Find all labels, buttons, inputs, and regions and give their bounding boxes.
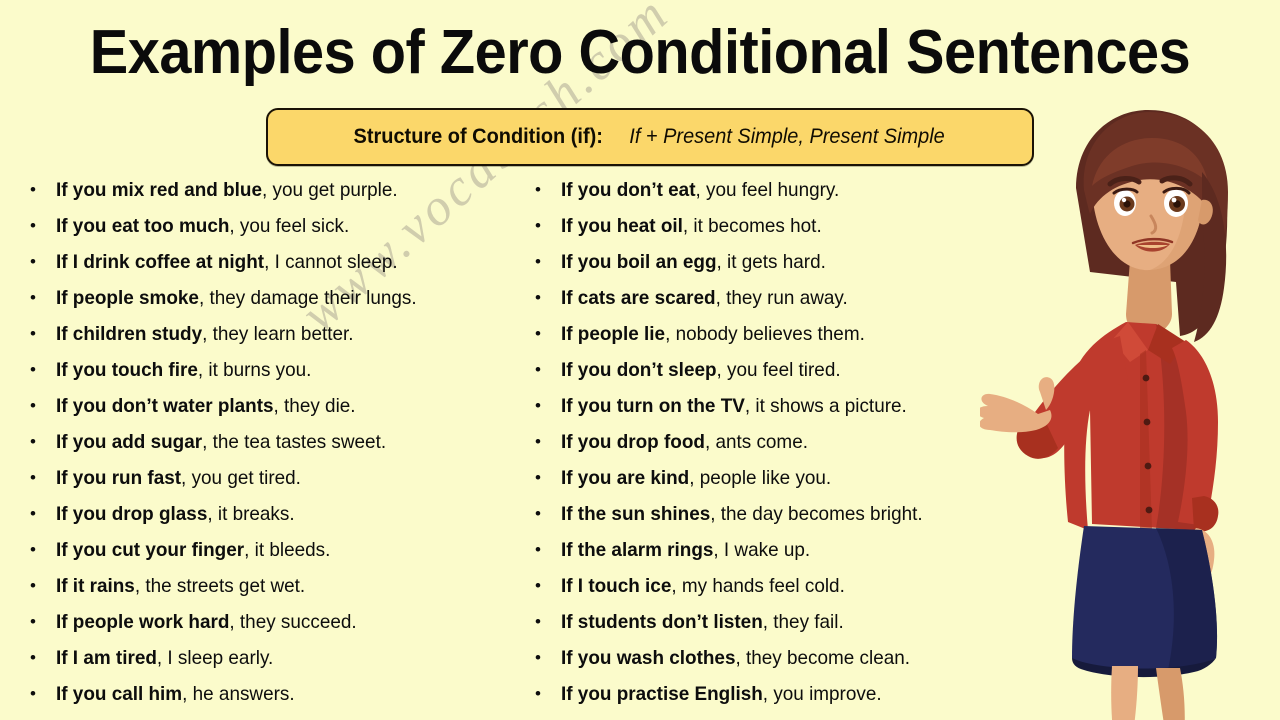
sentence-text: If you eat too much, you feel sick. [56,208,349,244]
condition-clause: If children study [56,323,202,345]
list-item: •If you call him, he answers. [30,676,530,712]
bullet-icon: • [535,244,561,280]
bullet-icon: • [30,316,56,352]
sentence-text: If you don’t water plants, they die. [56,388,356,424]
sentence-text: If you wash clothes, they become clean. [561,640,910,676]
sentence-text: If you mix red and blue, you get purple. [56,172,398,208]
result-clause: , you feel hungry. [696,179,840,201]
list-item: •If you run fast, you get tired. [30,460,530,496]
result-clause: , it shows a picture. [745,395,907,417]
list-item: •If people lie, nobody believes them. [535,316,1005,352]
bullet-icon: • [30,460,56,496]
result-clause: , my hands feel cold. [671,575,844,597]
list-item: •If the alarm rings, I wake up. [535,532,1005,568]
bullet-icon: • [535,352,561,388]
result-clause: , they succeed. [229,611,356,633]
list-item: •If you eat too much, you feel sick. [30,208,530,244]
condition-clause: If you drop food [561,431,705,453]
result-clause: , people like you. [689,467,831,489]
condition-clause: If you practise English [561,683,763,705]
bullet-icon: • [535,460,561,496]
shirt-button-4 [1146,507,1153,514]
bullet-icon: • [535,280,561,316]
result-clause: , the day becomes bright. [710,503,922,525]
shirt-button-3 [1145,463,1152,470]
list-item: •If I touch ice, my hands feel cold. [535,568,1005,604]
condition-clause: If people smoke [56,287,199,309]
result-clause: , the tea tastes sweet. [202,431,386,453]
sentence-text: If you don’t eat, you feel hungry. [561,172,839,208]
list-item: •If the sun shines, the day becomes brig… [535,496,1005,532]
condition-clause: If you run fast [56,467,181,489]
result-clause: , they become clean. [735,647,910,669]
sentence-text: If you don’t sleep, you feel tired. [561,352,841,388]
sentence-text: If I touch ice, my hands feel cold. [561,568,845,604]
bullet-icon: • [535,424,561,460]
list-item: •If you cut your finger, it bleeds. [30,532,530,568]
condition-clause: If you call him [56,683,182,705]
sentence-text: If you touch fire, it burns you. [56,352,311,388]
result-clause: , the streets get wet. [135,575,305,597]
condition-clause: If you add sugar [56,431,202,453]
leg-right [1156,668,1185,720]
list-item: •If you add sugar, the tea tastes sweet. [30,424,530,460]
condition-clause: If you don’t sleep [561,359,717,381]
bullet-icon: • [30,172,56,208]
condition-clause: If you turn on the TV [561,395,745,417]
result-clause: , I sleep early. [157,647,273,669]
bullet-icon: • [30,280,56,316]
condition-clause: If you don’t eat [561,179,696,201]
bullet-icon: • [535,532,561,568]
result-clause: , it bleeds. [244,539,330,561]
eye-glint-left [1122,198,1126,202]
sentence-text: If you add sugar, the tea tastes sweet. [56,424,386,460]
list-item: •If children study, they learn better. [30,316,530,352]
bullet-icon: • [30,208,56,244]
sentence-text: If people work hard, they succeed. [56,604,357,640]
bullet-icon: • [535,208,561,244]
bullet-icon: • [30,640,56,676]
list-item: •If you don’t eat, you feel hungry. [535,172,1005,208]
sentence-text: If you heat oil, it becomes hot. [561,208,822,244]
bullet-icon: • [535,388,561,424]
structure-formula: If + Present Simple, Present Simple [629,125,944,149]
list-item: •If you boil an egg, it gets hard. [535,244,1005,280]
list-item: •If you mix red and blue, you get purple… [30,172,530,208]
list-item: •If you practise English, you improve. [535,676,1005,712]
result-clause: , you get purple. [262,179,398,201]
sentence-text: If the sun shines, the day becomes brigh… [561,496,923,532]
bullet-icon: • [535,316,561,352]
condition-clause: If you touch fire [56,359,198,381]
bullet-icon: • [30,568,56,604]
condition-clause: If I drink coffee at night [56,251,264,273]
woman-teacher-illustration [980,92,1280,720]
result-clause: , they damage their lungs. [199,287,417,309]
list-item: •If cats are scared, they run away. [535,280,1005,316]
bullet-icon: • [30,352,56,388]
result-clause: , it breaks. [207,503,294,525]
result-clause: , ants come. [705,431,808,453]
sentence-text: If you turn on the TV, it shows a pictur… [561,388,907,424]
condition-clause: If you wash clothes [561,647,735,669]
sentence-column-left: •If you mix red and blue, you get purple… [30,172,530,712]
result-clause: , they die. [274,395,356,417]
leg-left [1111,666,1138,720]
bullet-icon: • [535,568,561,604]
list-item: •If you drop glass, it breaks. [30,496,530,532]
sentence-text: If it rains, the streets get wet. [56,568,305,604]
list-item: •If people smoke, they damage their lung… [30,280,530,316]
list-item: •If you turn on the TV, it shows a pictu… [535,388,1005,424]
list-item: •If I am tired, I sleep early. [30,640,530,676]
list-item: •If students don’t listen, they fail. [535,604,1005,640]
sentence-text: If you boil an egg, it gets hard. [561,244,826,280]
sentence-text: If children study, they learn better. [56,316,354,352]
condition-clause: If you drop glass [56,503,207,525]
list-item: •If I drink coffee at night, I cannot sl… [30,244,530,280]
result-clause: , nobody believes them. [665,323,865,345]
result-clause: , they learn better. [202,323,353,345]
condition-clause: If the alarm rings [561,539,713,561]
sentence-text: If you practise English, you improve. [561,676,882,712]
list-item: •If you are kind, people like you. [535,460,1005,496]
list-item: •If you heat oil, it becomes hot. [535,208,1005,244]
condition-clause: If I am tired [56,647,157,669]
list-item: •If it rains, the streets get wet. [30,568,530,604]
condition-clause: If people lie [561,323,665,345]
result-clause: , you feel sick. [229,215,349,237]
bullet-icon: • [30,604,56,640]
result-clause: , you improve. [763,683,882,705]
bullet-icon: • [30,496,56,532]
sentence-column-right: •If you don’t eat, you feel hungry.•If y… [535,172,1005,712]
result-clause: , it gets hard. [717,251,826,273]
result-clause: , you feel tired. [717,359,841,381]
sentence-text: If the alarm rings, I wake up. [561,532,810,568]
list-item: •If you don’t water plants, they die. [30,388,530,424]
list-item: •If you wash clothes, they become clean. [535,640,1005,676]
list-item: •If people work hard, they succeed. [30,604,530,640]
condition-clause: If people work hard [56,611,229,633]
bullet-icon: • [30,532,56,568]
sentence-text: If I am tired, I sleep early. [56,640,273,676]
result-clause: , he answers. [182,683,295,705]
sentence-text: If I drink coffee at night, I cannot sle… [56,244,398,280]
condition-clause: If cats are scared [561,287,716,309]
bullet-icon: • [535,496,561,532]
sentence-text: If cats are scared, they run away. [561,280,848,316]
poster-canvas: Examples of Zero Conditional Sentences S… [0,0,1280,720]
sentence-text: If you call him, he answers. [56,676,295,712]
result-clause: , you get tired. [181,467,301,489]
condition-clause: If students don’t listen [561,611,763,633]
condition-clause: If you don’t water plants [56,395,274,417]
shirt-button-1 [1143,375,1150,382]
list-item: •If you drop food, ants come. [535,424,1005,460]
result-clause: , I cannot sleep. [264,251,398,273]
eye-glint-right [1172,198,1177,203]
condition-clause: If you are kind [561,467,689,489]
bullet-icon: • [535,172,561,208]
result-clause: , it becomes hot. [683,215,822,237]
sentence-text: If people lie, nobody believes them. [561,316,865,352]
shirt-button-2 [1144,419,1151,426]
condition-clause: If I touch ice [561,575,671,597]
sentence-text: If you drop food, ants come. [561,424,808,460]
sentence-text: If students don’t listen, they fail. [561,604,844,640]
structure-of-condition-box: Structure of Condition (if): If + Presen… [266,108,1034,166]
page-title: Examples of Zero Conditional Sentences [45,18,1235,88]
sentence-text: If people smoke, they damage their lungs… [56,280,417,316]
condition-clause: If you boil an egg [561,251,717,273]
condition-clause: If you cut your finger [56,539,244,561]
bullet-icon: • [30,388,56,424]
condition-clause: If it rains [56,575,135,597]
bullet-icon: • [30,424,56,460]
result-clause: , it burns you. [198,359,312,381]
bullet-icon: • [535,604,561,640]
result-clause: , they run away. [716,287,848,309]
sentence-text: If you run fast, you get tired. [56,460,301,496]
bullet-icon: • [30,676,56,712]
structure-label: Structure of Condition (if): [353,125,602,149]
bullet-icon: • [535,676,561,712]
sleeve-cuff-right [1192,496,1218,531]
sentence-text: If you drop glass, it breaks. [56,496,295,532]
condition-clause: If you heat oil [561,215,683,237]
list-item: •If you touch fire, it burns you. [30,352,530,388]
list-item: •If you don’t sleep, you feel tired. [535,352,1005,388]
condition-clause: If the sun shines [561,503,710,525]
sentence-text: If you are kind, people like you. [561,460,831,496]
sentence-text: If you cut your finger, it bleeds. [56,532,330,568]
condition-clause: If you mix red and blue [56,179,262,201]
condition-clause: If you eat too much [56,215,229,237]
bullet-icon: • [535,640,561,676]
bullet-icon: • [30,244,56,280]
result-clause: , they fail. [763,611,844,633]
result-clause: , I wake up. [713,539,810,561]
